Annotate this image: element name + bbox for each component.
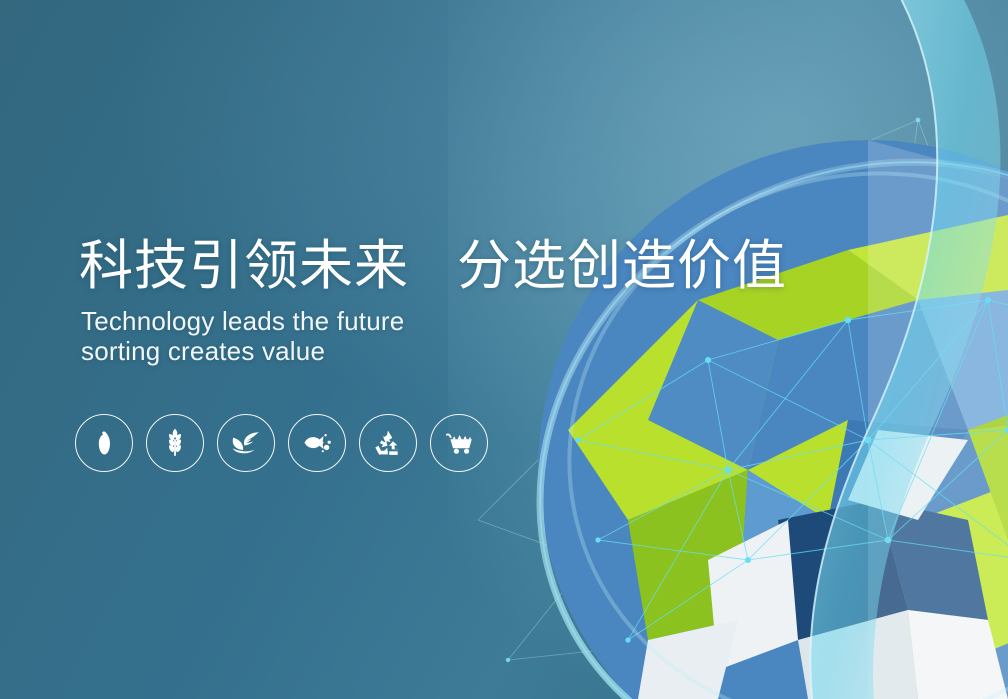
page-subtitle: Technology leads the future sorting crea… bbox=[81, 306, 779, 366]
hero-banner: 科技引领未来 分选创造价值 Technology leads the futur… bbox=[0, 0, 1008, 699]
page-subtitle-line-1: Technology leads the future bbox=[81, 306, 779, 336]
hero-copy: 科技引领未来 分选创造价值 Technology leads the futur… bbox=[79, 238, 779, 366]
fish-icon bbox=[302, 431, 332, 455]
industry-icon-row bbox=[75, 414, 488, 472]
tea-leaf-icon bbox=[231, 431, 261, 455]
icon-badge-mine-cart[interactable] bbox=[430, 414, 488, 472]
icon-badge-wheat-ear[interactable] bbox=[146, 414, 204, 472]
icon-badge-fish[interactable] bbox=[288, 414, 346, 472]
icon-badge-rice-grain[interactable] bbox=[75, 414, 133, 472]
mine-cart-icon bbox=[444, 431, 474, 455]
icon-badge-tea-leaf[interactable] bbox=[217, 414, 275, 472]
icon-badge-recycle[interactable] bbox=[359, 414, 417, 472]
page-title: 科技引领未来 分选创造价值 bbox=[79, 238, 779, 294]
wheat-ear-icon bbox=[162, 428, 188, 458]
rice-grain-icon bbox=[92, 429, 116, 457]
page-subtitle-line-2: sorting creates value bbox=[81, 336, 779, 366]
recycle-icon bbox=[374, 429, 402, 457]
